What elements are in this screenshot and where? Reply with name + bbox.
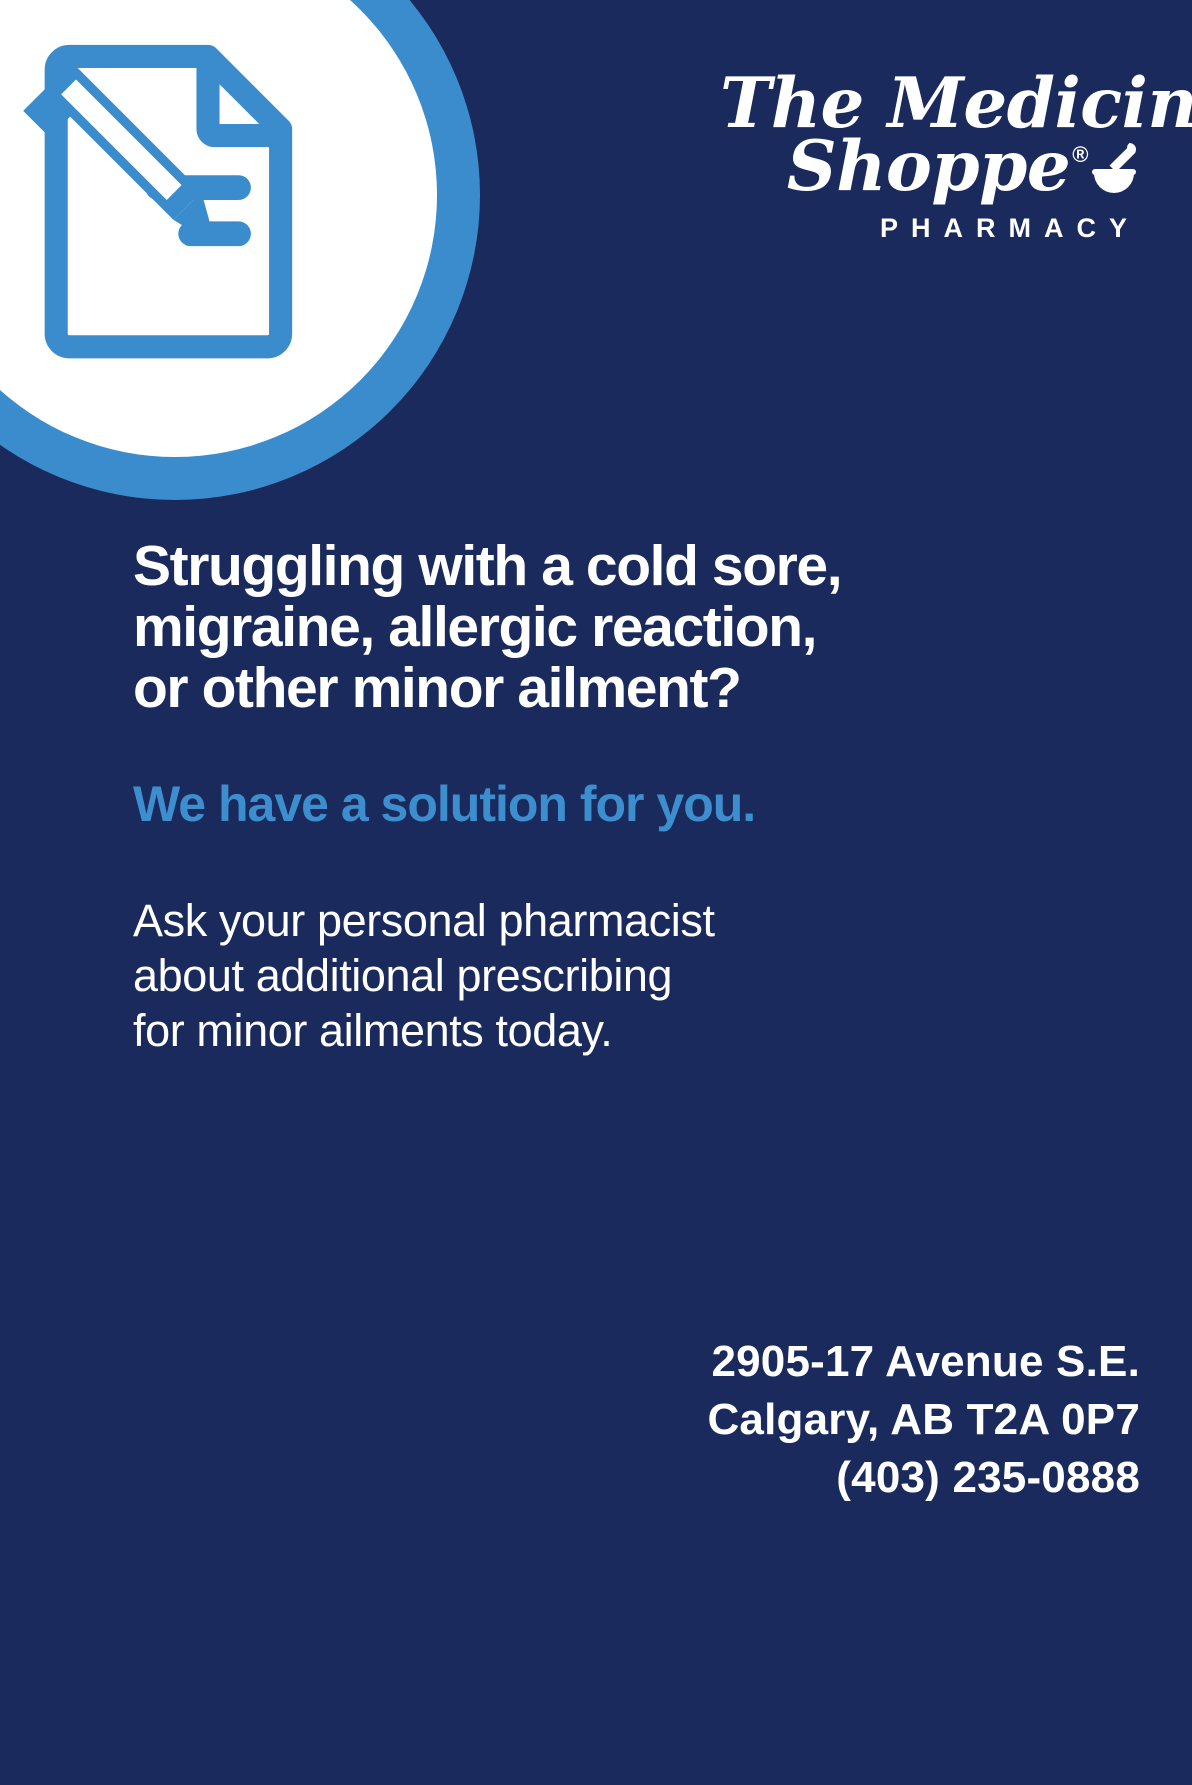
document-with-pencil-icon: [10, 30, 340, 360]
logo-line-shoppe: Shoppe: [787, 135, 1070, 198]
subheadline: We have a solution for you.: [133, 777, 1063, 832]
registered-trademark-icon: ®: [1072, 145, 1088, 165]
body-line-3: for minor ailments today.: [133, 1004, 1063, 1059]
address-city-province-postal: Calgary, AB T2A 0P7: [707, 1391, 1140, 1449]
address-phone[interactable]: (403) 235-0888: [707, 1449, 1140, 1507]
brand-logo: The Medicine Shoppe ® PHARMACY: [720, 72, 1140, 244]
body-line-2: about additional prescribing: [133, 949, 1063, 1004]
mortar-and-pestle-icon: [1088, 139, 1140, 197]
store-address-block: 2905-17 Avenue S.E. Calgary, AB T2A 0P7 …: [707, 1333, 1140, 1507]
message-content: Struggling with a cold sore, migraine, a…: [133, 536, 1063, 1059]
poster-root: The Medicine Shoppe ® PHARMACY Strugglin…: [0, 0, 1192, 1785]
logo-line-shoppe-row: Shoppe ®: [720, 135, 1140, 198]
logo-script-wordmark: The Medicine Shoppe ®: [720, 72, 1140, 199]
headline-line-3: or other minor ailment?: [133, 658, 1063, 719]
body-copy: Ask your personal pharmacist about addit…: [133, 894, 1063, 1059]
address-street: 2905-17 Avenue S.E.: [707, 1333, 1140, 1391]
icon-badge-circle: [0, 0, 480, 500]
logo-tagline-pharmacy: PHARMACY: [720, 213, 1140, 244]
headline-line-1: Struggling with a cold sore,: [133, 536, 1063, 597]
icon-badge-inner: [0, 0, 437, 457]
body-line-1: Ask your personal pharmacist: [133, 894, 1063, 949]
headline: Struggling with a cold sore, migraine, a…: [133, 536, 1063, 719]
headline-line-2: migraine, allergic reaction,: [133, 597, 1063, 658]
